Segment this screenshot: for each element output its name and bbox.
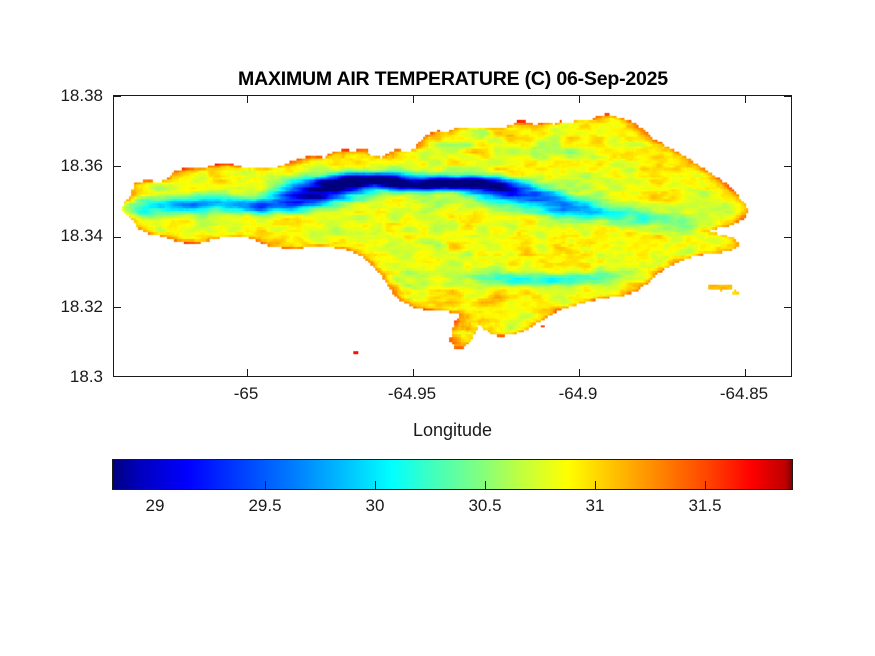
page-title: MAXIMUM AIR TEMPERATURE (C) 06-Sep-2025 (113, 68, 793, 91)
yticklabel-3: 18.34 (60, 226, 103, 246)
yticklabel-1: 18.3 (70, 367, 103, 387)
colorbar-label-5: 31 (586, 496, 605, 516)
colorbar-label-1: 29 (146, 496, 165, 516)
colorbar-label-2: 29.5 (248, 496, 281, 516)
ytick-left-3 (114, 237, 121, 238)
x-axis-label: Longitude (113, 420, 792, 441)
xtick-top-3 (579, 96, 580, 103)
yticklabel-2: 18.32 (60, 297, 103, 317)
xticklabel-4: -64.85 (720, 384, 768, 404)
map-axes[interactable] (113, 95, 792, 377)
colorbar-tick-6 (705, 481, 706, 489)
xtick-bottom-3 (579, 369, 580, 376)
colorbar-tick-5 (595, 481, 596, 489)
colorbar-tick-2 (265, 481, 266, 489)
ytick-right-5 (784, 96, 791, 97)
xticklabel-3: -64.9 (559, 384, 598, 404)
xtick-top-2 (413, 96, 414, 103)
colorbar-label-4: 30.5 (468, 496, 501, 516)
xticklabel-1: -65 (234, 384, 259, 404)
yticklabel-5: 18.38 (60, 86, 103, 106)
xticklabel-2: -64.95 (388, 384, 436, 404)
colorbar-label-3: 30 (366, 496, 385, 516)
xtick-top-1 (247, 96, 248, 103)
yticklabel-4: 18.36 (60, 156, 103, 176)
ytick-left-4 (114, 166, 121, 167)
xtick-bottom-4 (745, 369, 746, 376)
ytick-right-2 (784, 307, 791, 308)
figure-canvas: MAXIMUM AIR TEMPERATURE (C) 06-Sep-2025 … (0, 0, 875, 656)
xtick-bottom-1 (247, 369, 248, 376)
colorbar-gradient (112, 459, 793, 490)
temperature-heatmap (114, 96, 791, 376)
colorbar[interactable] (112, 459, 793, 490)
xtick-top-4 (745, 96, 746, 103)
colorbar-tick-4 (485, 481, 486, 489)
ytick-left-5 (114, 96, 121, 97)
colorbar-tick-3 (375, 481, 376, 489)
ytick-left-2 (114, 307, 121, 308)
colorbar-label-6: 31.5 (688, 496, 721, 516)
xtick-bottom-2 (413, 369, 414, 376)
colorbar-tick-1 (155, 481, 156, 489)
ytick-right-3 (784, 237, 791, 238)
ytick-right-4 (784, 166, 791, 167)
